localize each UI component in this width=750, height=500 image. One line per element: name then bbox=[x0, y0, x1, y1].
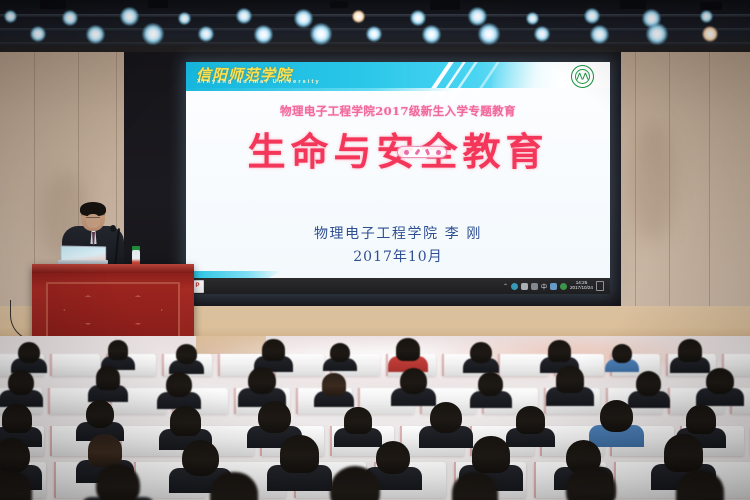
presentation-overlay-toolbar[interactable] bbox=[397, 146, 447, 158]
audience-member-head bbox=[262, 339, 285, 361]
windows-taskbar[interactable]: P ⌃ 中 14:25 2017/10/24 bbox=[186, 278, 610, 294]
spotlight bbox=[478, 23, 500, 45]
audience-member-head bbox=[166, 372, 192, 397]
microphone-head bbox=[110, 225, 116, 232]
light-fixture bbox=[700, 2, 722, 10]
audience-member-head bbox=[678, 339, 702, 362]
pen-icon[interactable] bbox=[404, 150, 409, 155]
spotlight bbox=[142, 23, 164, 45]
light-fixture bbox=[148, 0, 168, 8]
slide-presenter: 物理电子工程学院 李 刚 bbox=[186, 223, 610, 243]
audience-member-head bbox=[516, 406, 545, 434]
audience-member-head bbox=[108, 340, 128, 360]
wooden-lectern bbox=[32, 264, 194, 346]
show-desktop-button[interactable] bbox=[596, 281, 604, 291]
volume-icon[interactable] bbox=[521, 283, 528, 290]
lecture-hall-photo: 信阳师范学院 Xinyang Normal University ⋀⋀ 物理电子… bbox=[0, 0, 750, 500]
spotlight bbox=[646, 23, 668, 45]
ceiling-truss bbox=[0, 0, 750, 58]
audience-member-head bbox=[8, 370, 34, 395]
audience-member-head bbox=[182, 440, 219, 476]
spotlight bbox=[254, 25, 273, 44]
audience-member-head bbox=[18, 342, 40, 363]
spotlight bbox=[198, 26, 214, 42]
laptop-base bbox=[58, 260, 108, 264]
audience-member-head bbox=[430, 402, 462, 433]
slide-subtitle: 物理电子工程学院2017级新生入学专题教育 bbox=[186, 103, 610, 119]
audience-member-head bbox=[88, 434, 122, 467]
pointer-icon[interactable] bbox=[414, 149, 420, 156]
audience-member-head bbox=[248, 367, 276, 394]
spotlight bbox=[366, 26, 382, 42]
audience-member-head bbox=[548, 340, 571, 362]
network-icon[interactable] bbox=[511, 283, 518, 290]
spotlight bbox=[294, 9, 313, 28]
university-emblem-icon: ⋀⋀ bbox=[571, 65, 594, 88]
audience-member-head bbox=[470, 342, 492, 363]
audience-member-head bbox=[258, 401, 291, 433]
audience-member-head bbox=[0, 438, 30, 473]
spotlight bbox=[178, 12, 191, 25]
light-fixture bbox=[40, 0, 66, 9]
university-logo-en: Xinyang Normal University bbox=[197, 79, 321, 85]
audience-member-head bbox=[280, 435, 319, 473]
audience-member-head bbox=[344, 407, 372, 434]
spotlight bbox=[352, 10, 365, 23]
spotlight bbox=[422, 25, 441, 44]
audience-member-head bbox=[322, 373, 346, 396]
spotlight bbox=[30, 26, 46, 42]
audience-seating bbox=[0, 336, 750, 500]
audience-member-head bbox=[176, 344, 197, 364]
light-fixture bbox=[330, 1, 348, 8]
audience-member-head bbox=[96, 366, 120, 390]
spotlight bbox=[526, 12, 539, 25]
taskbar-clock[interactable]: 14:25 2017/10/24 bbox=[570, 281, 593, 291]
system-tray[interactable]: ⌃ 中 14:25 2017/10/24 bbox=[503, 281, 610, 291]
spotlight bbox=[86, 25, 105, 44]
audience-member-head bbox=[686, 405, 716, 434]
slide-date: 2017年10月 bbox=[186, 246, 610, 266]
spotlight bbox=[534, 26, 550, 42]
spotlight bbox=[120, 7, 139, 26]
audience-member-head bbox=[330, 343, 350, 362]
audience-member-head bbox=[706, 368, 734, 394]
spotlight bbox=[62, 10, 78, 26]
audience-member-head bbox=[400, 368, 427, 394]
spotlight bbox=[4, 10, 17, 23]
spotlight bbox=[702, 26, 718, 42]
audience-member-head bbox=[556, 366, 584, 393]
audience-member-head bbox=[612, 344, 632, 363]
presenter-glasses bbox=[86, 217, 100, 222]
audience-member-head bbox=[664, 434, 703, 472]
stage-wall-right bbox=[613, 52, 750, 344]
audience-member-head bbox=[2, 404, 32, 433]
audience-member-head bbox=[472, 436, 510, 473]
clock-date: 2017/10/24 bbox=[570, 286, 593, 291]
lectern-diamond-motif bbox=[63, 295, 163, 325]
chevron-up-icon[interactable]: ⌃ bbox=[503, 283, 508, 290]
spotlight bbox=[468, 7, 487, 26]
audience-member-head bbox=[600, 400, 633, 432]
language-indicator[interactable]: 中 bbox=[541, 282, 547, 291]
spotlight bbox=[590, 25, 609, 44]
marker-icon[interactable] bbox=[424, 149, 429, 156]
spotlight bbox=[236, 8, 252, 24]
battery-icon[interactable] bbox=[550, 283, 557, 290]
antivirus-icon[interactable] bbox=[560, 283, 567, 290]
spotlight bbox=[310, 23, 332, 45]
emblem-inner-mark: ⋀⋀ bbox=[575, 69, 590, 84]
audience-member-head bbox=[396, 338, 420, 361]
audience-member-head bbox=[96, 464, 140, 500]
audience-member-head bbox=[636, 371, 661, 396]
projected-slide: 信阳师范学院 Xinyang Normal University ⋀⋀ 物理电子… bbox=[186, 62, 610, 294]
audience-member-head bbox=[86, 400, 114, 428]
light-fixture bbox=[620, 0, 646, 9]
ime-icon[interactable] bbox=[531, 283, 538, 290]
audience-member-head bbox=[478, 372, 503, 396]
spotlight bbox=[700, 10, 713, 23]
light-fixture bbox=[430, 0, 460, 10]
menu-icon[interactable] bbox=[436, 150, 441, 155]
spotlight bbox=[584, 8, 600, 24]
slide-footer-chevron bbox=[186, 271, 282, 278]
auditorium-seat bbox=[50, 354, 100, 376]
audience-member-head bbox=[170, 406, 201, 436]
spotlight bbox=[410, 10, 426, 26]
audience-member-head bbox=[376, 441, 410, 474]
